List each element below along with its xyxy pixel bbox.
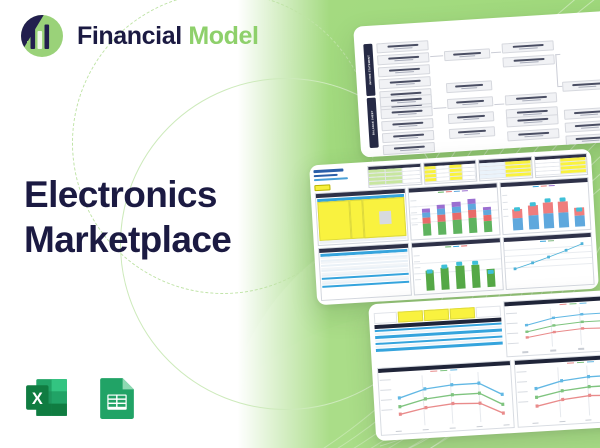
dashboard-title-block <box>313 166 366 191</box>
node-non-current-liabilities <box>383 142 436 155</box>
file-format-icons: X <box>22 373 141 422</box>
dupont-column-2a <box>444 48 493 93</box>
connector-3 <box>491 52 501 53</box>
dashboard-layout <box>313 153 594 301</box>
investment-payback-chart <box>504 237 594 289</box>
dashboard-column-tables <box>315 188 412 301</box>
bar-group <box>527 205 538 230</box>
bar-group <box>440 267 450 289</box>
bar-group <box>512 209 523 231</box>
bar-group <box>483 207 493 232</box>
node-revenue <box>376 40 429 53</box>
dashboard-column-analytics <box>499 177 595 290</box>
dupont-column-inputs-bs <box>380 94 436 158</box>
income-statement-band: INCOME STATEMENT <box>363 44 375 96</box>
page-title-line2: Marketplace <box>24 217 231 262</box>
node-current-liabilities <box>382 130 435 143</box>
brand-wordmark: Financial Model <box>77 24 259 49</box>
profitability-bars <box>508 187 587 230</box>
charts-layout <box>373 293 600 436</box>
income-statement-band-label: INCOME STATEMENT <box>367 55 372 85</box>
node-depreciation <box>379 76 432 89</box>
bar-group <box>471 265 481 288</box>
line-series <box>393 370 509 427</box>
gross-margin-composition-chart[interactable] <box>377 360 514 436</box>
connector-4 <box>494 104 504 105</box>
bar-group <box>456 265 466 288</box>
revenue-charts-card[interactable] <box>368 288 600 441</box>
profitability-panel[interactable] <box>499 177 591 235</box>
poster-canvas: Financial Model Electronics Marketplace … <box>0 0 600 448</box>
revenue-streams-chart <box>409 187 499 239</box>
node-revenue-2 <box>446 80 493 93</box>
bar-group <box>487 269 497 287</box>
node-total-asset-turnover <box>505 92 558 105</box>
bar-group <box>437 204 447 234</box>
payback-line <box>507 240 590 272</box>
financial-model-circle-chart-logo-icon <box>18 12 66 60</box>
key-financials-panel[interactable] <box>318 243 412 301</box>
node-total-liabilities <box>449 126 496 139</box>
node-net-income <box>444 48 491 61</box>
connector-2 <box>433 107 446 108</box>
brand-name-part2: Model <box>188 22 258 50</box>
key-financials-body <box>319 248 411 300</box>
bar-group <box>425 270 435 290</box>
node-cost-of-revenue <box>377 52 430 65</box>
dashboard-link-bar <box>314 177 348 181</box>
dupont-card-inner: INCOME STATEMENT BALANCE SHEET <box>353 9 600 157</box>
balance-sheet-band-label: BALANCE SHEET <box>370 110 375 135</box>
node-current-ratio <box>565 120 600 133</box>
microsoft-excel-icon[interactable]: X <box>22 373 71 422</box>
charts-bottom-row <box>377 352 600 436</box>
balance-sheet-band: BALANCE SHEET <box>367 98 379 148</box>
plot-area <box>520 303 600 348</box>
dupont-flowchart: INCOME STATEMENT BALANCE SHEET <box>363 26 600 147</box>
cash-flow-bars <box>420 247 499 290</box>
dashboard-subtitle-bar <box>314 173 338 176</box>
dupont-column-3a <box>502 40 555 67</box>
dupont-column-2b <box>447 96 495 139</box>
node-shareholders-equity <box>507 128 560 141</box>
charts-top-row <box>373 293 600 365</box>
plot-area <box>393 370 509 427</box>
node-debt-equity-assets <box>506 114 559 127</box>
dashboard-input-chip[interactable] <box>314 184 330 191</box>
brand-name-part1: Financial <box>77 22 182 50</box>
dashboard-panel-grid <box>315 177 595 301</box>
page-title-line1: Electronics <box>24 174 217 215</box>
node-non-current-assets <box>381 118 434 131</box>
assumptions-table-1[interactable] <box>367 163 422 188</box>
financial-dashboard-card[interactable] <box>309 149 599 305</box>
node-current-assets <box>380 106 433 119</box>
node-net-profit-margin <box>502 54 555 67</box>
dupont-analysis-card[interactable]: INCOME STATEMENT BALANCE SHEET <box>353 9 600 157</box>
plot-area <box>529 362 600 419</box>
node-return-on-total-assets <box>562 79 600 92</box>
assumptions-table-3[interactable] <box>478 156 533 181</box>
line-series <box>529 362 600 419</box>
node-accounts-receivable <box>380 94 433 107</box>
node-gross-margin <box>502 40 555 53</box>
connector-1 <box>430 55 443 56</box>
bar-group <box>467 199 477 233</box>
brand-logo[interactable]: Financial Model <box>18 12 259 60</box>
cash-flow-chart <box>412 242 502 294</box>
page-title: Electronics Marketplace <box>24 172 231 262</box>
node-leverage <box>564 107 600 120</box>
ebitda-composition-chart[interactable] <box>513 352 600 428</box>
bar-group <box>574 207 585 227</box>
profitability-chart <box>500 182 590 234</box>
cost-inputs-body <box>316 193 408 245</box>
node-revenue-3 <box>447 96 494 109</box>
revenue-streams-panel[interactable] <box>408 182 500 240</box>
dashboard-column-bars <box>408 182 504 295</box>
bar-group <box>558 201 570 228</box>
dupont-column-4b <box>564 107 600 146</box>
cash-flow-panel[interactable] <box>411 237 503 295</box>
assumptions-table-2[interactable] <box>423 160 478 185</box>
cost-inputs-panel[interactable] <box>315 188 409 246</box>
dashboard-title-bar <box>313 168 343 173</box>
assumptions-table[interactable] <box>373 302 503 365</box>
assumptions-table-4[interactable] <box>533 153 588 178</box>
connector-8 <box>555 54 558 86</box>
svg-text:X: X <box>32 390 43 408</box>
node-operating-expenses <box>378 64 431 77</box>
dupont-column-3c <box>506 114 559 141</box>
revenue-composition-chart[interactable] <box>503 293 600 357</box>
bar-group <box>421 208 431 235</box>
google-sheets-icon[interactable] <box>92 373 141 422</box>
bar-group <box>452 202 462 234</box>
stacked-bars <box>417 193 496 236</box>
bar-group <box>543 202 555 229</box>
line-series <box>520 303 600 348</box>
connector-5 <box>555 54 560 55</box>
node-total-assets <box>448 111 495 124</box>
investment-payback-panel[interactable] <box>502 232 594 290</box>
dupont-column-4 <box>562 79 600 92</box>
